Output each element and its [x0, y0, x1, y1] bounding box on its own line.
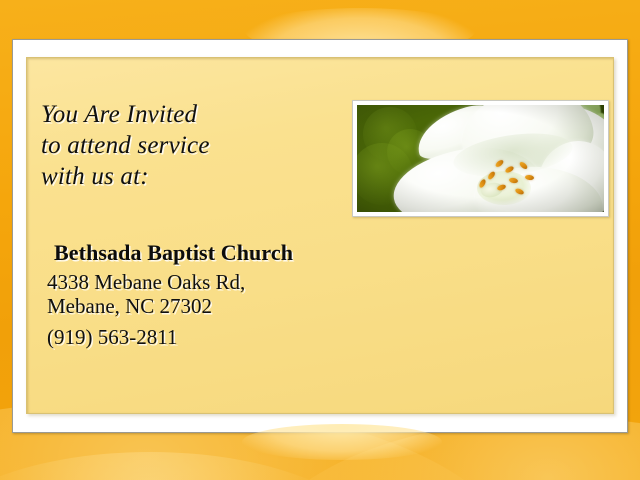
church-name: Bethsada Baptist Church: [54, 240, 293, 266]
church-phone: (919) 563-2811: [47, 325, 177, 350]
lily-photo-frame: [352, 100, 609, 217]
background-arc-bottom: [242, 424, 442, 460]
lily-photo: [357, 105, 604, 212]
invitation-slide: You Are Invited to attend service with u…: [0, 0, 640, 480]
church-address: 4338 Mebane Oaks Rd, Mebane, NC 27302: [47, 270, 245, 318]
invitation-headline: You Are Invited to attend service with u…: [41, 99, 210, 192]
photo-vignette: [357, 105, 604, 212]
